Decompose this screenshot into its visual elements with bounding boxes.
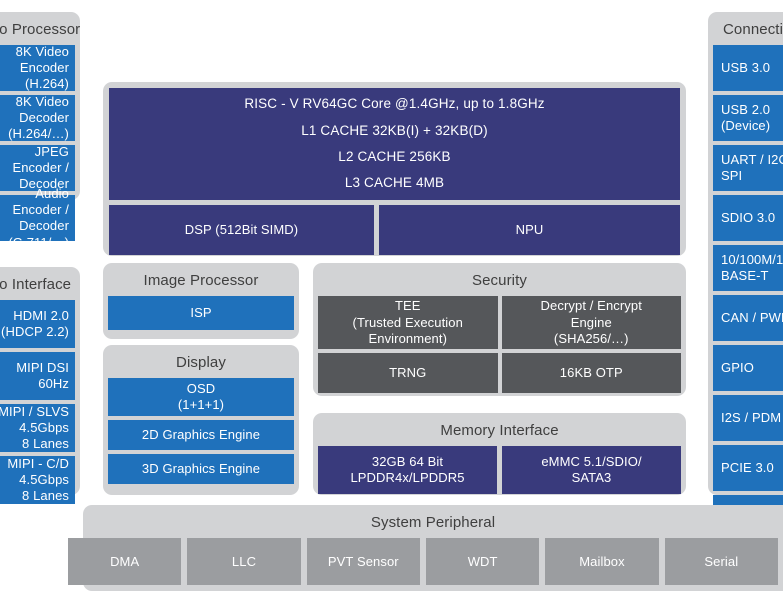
- panel-title-video-processor: Video Processor: [0, 17, 75, 45]
- panel-cpu: RISC - V RV64GC Core @1.4GHz, up to 1.8G…: [103, 82, 686, 256]
- block-usb3: USB 3.0: [713, 45, 783, 91]
- block-pcie: PCIE 3.0: [713, 445, 783, 491]
- block-mipi-dsi: MIPI DSI 60Hz: [0, 352, 75, 400]
- block-mailbox: Mailbox: [545, 538, 658, 585]
- block-crypto-engine: Decrypt / Encrypt Engine (SHA256/…): [502, 296, 682, 349]
- block-dma: DMA: [68, 538, 181, 585]
- panel-title-memory-interface: Memory Interface: [318, 418, 681, 446]
- block-tee: TEE (Trusted Execution Environment): [318, 296, 498, 349]
- panel-video-processor: Video Processor 8K Video Encoder (H.264)…: [0, 12, 80, 200]
- block-hdmi: HDMI 2.0 (HDCP 2.2): [0, 300, 75, 348]
- panel-title-connectivity: Connectivity: [713, 17, 783, 45]
- memory-row: 32GB 64 Bit LPDDR4x/LPDDR5 eMMC 5.1/SDIO…: [318, 446, 681, 494]
- panel-title-display: Display: [108, 350, 294, 378]
- panel-title-system-peripheral: System Peripheral: [88, 510, 778, 538]
- block-video-decoder: 8K Video Decoder (H.264/…): [0, 95, 75, 141]
- block-can-pwm: CAN / PWM: [713, 295, 783, 341]
- block-2d-graphics-engine: 2D Graphics Engine: [108, 420, 294, 450]
- panel-title-security: Security: [318, 268, 681, 296]
- panel-title-video-interface: Video Interface: [0, 272, 75, 300]
- panel-connectivity: Connectivity USB 3.0 USB 2.0 (Device) UA…: [708, 12, 783, 495]
- cpu-core-line-2: L1 CACHE 32KB(I) + 32KB(D): [301, 118, 488, 144]
- cpu-core-line-1: RISC - V RV64GC Core @1.4GHz, up to 1.8G…: [244, 91, 544, 117]
- panel-security: Security TEE (Trusted Execution Environm…: [313, 263, 686, 396]
- panel-display: Display OSD (1+1+1) 2D Graphics Engine 3…: [103, 345, 299, 495]
- block-pvt-sensor: PVT Sensor: [307, 538, 420, 585]
- block-audio-codec: Audio Encoder / Decoder (G.711/…): [0, 195, 75, 241]
- cpu-core-line-3: L2 CACHE 256KB: [338, 144, 450, 170]
- soc-block-diagram: Video Processor 8K Video Encoder (H.264)…: [0, 0, 783, 600]
- block-trng: TRNG: [318, 353, 498, 393]
- block-sdio: SDIO 3.0: [713, 195, 783, 241]
- block-osd: OSD (1+1+1): [108, 378, 294, 416]
- block-llc: LLC: [187, 538, 300, 585]
- block-otp: 16KB OTP: [502, 353, 682, 393]
- block-usb2-device: USB 2.0 (Device): [713, 95, 783, 141]
- block-mipi-slvs: MIPI / SLVS 4.5Gbps 8 Lanes: [0, 404, 75, 452]
- panel-image-processor: Image Processor ISP: [103, 263, 299, 339]
- panel-system-peripheral: System Peripheral DMA LLC PVT Sensor WDT…: [83, 505, 783, 591]
- cpu-core-line-4: L3 CACHE 4MB: [345, 170, 444, 196]
- block-riscv-core: RISC - V RV64GC Core @1.4GHz, up to 1.8G…: [109, 88, 680, 200]
- panel-memory-interface: Memory Interface 32GB 64 Bit LPDDR4x/LPD…: [313, 413, 686, 495]
- block-3d-graphics-engine: 3D Graphics Engine: [108, 454, 294, 484]
- block-dsp: DSP (512Bit SIMD): [109, 205, 374, 255]
- block-jpeg-codec: JPEG Encoder / Decoder: [0, 145, 75, 191]
- security-grid: TEE (Trusted Execution Environment) Decr…: [318, 296, 681, 393]
- block-i2s-pdm: I2S / PDM: [713, 395, 783, 441]
- panel-title-image-processor: Image Processor: [108, 268, 294, 296]
- block-video-encoder: 8K Video Encoder (H.264): [0, 45, 75, 91]
- panel-video-interface: Video Interface HDMI 2.0 (HDCP 2.2) MIPI…: [0, 267, 80, 495]
- system-peripheral-row: DMA LLC PVT Sensor WDT Mailbox Serial: [88, 538, 778, 585]
- block-npu: NPU: [379, 205, 680, 255]
- block-lpddr: 32GB 64 Bit LPDDR4x/LPDDR5: [318, 446, 497, 494]
- block-mipi-cd: MIPI - C/D 4.5Gbps 8 Lanes: [0, 456, 75, 504]
- block-uart-i2c-spi: UART / I2C / SPI: [713, 145, 783, 191]
- block-isp: ISP: [108, 296, 294, 330]
- block-gpio: GPIO: [713, 345, 783, 391]
- block-wdt: WDT: [426, 538, 539, 585]
- cpu-accelerator-row: DSP (512Bit SIMD) NPU: [109, 205, 680, 255]
- block-serial: Serial: [665, 538, 778, 585]
- block-emmc-sdio-sata: eMMC 5.1/SDIO/ SATA3: [502, 446, 681, 494]
- block-ethernet: 10/100M/1000M BASE-T: [713, 245, 783, 291]
